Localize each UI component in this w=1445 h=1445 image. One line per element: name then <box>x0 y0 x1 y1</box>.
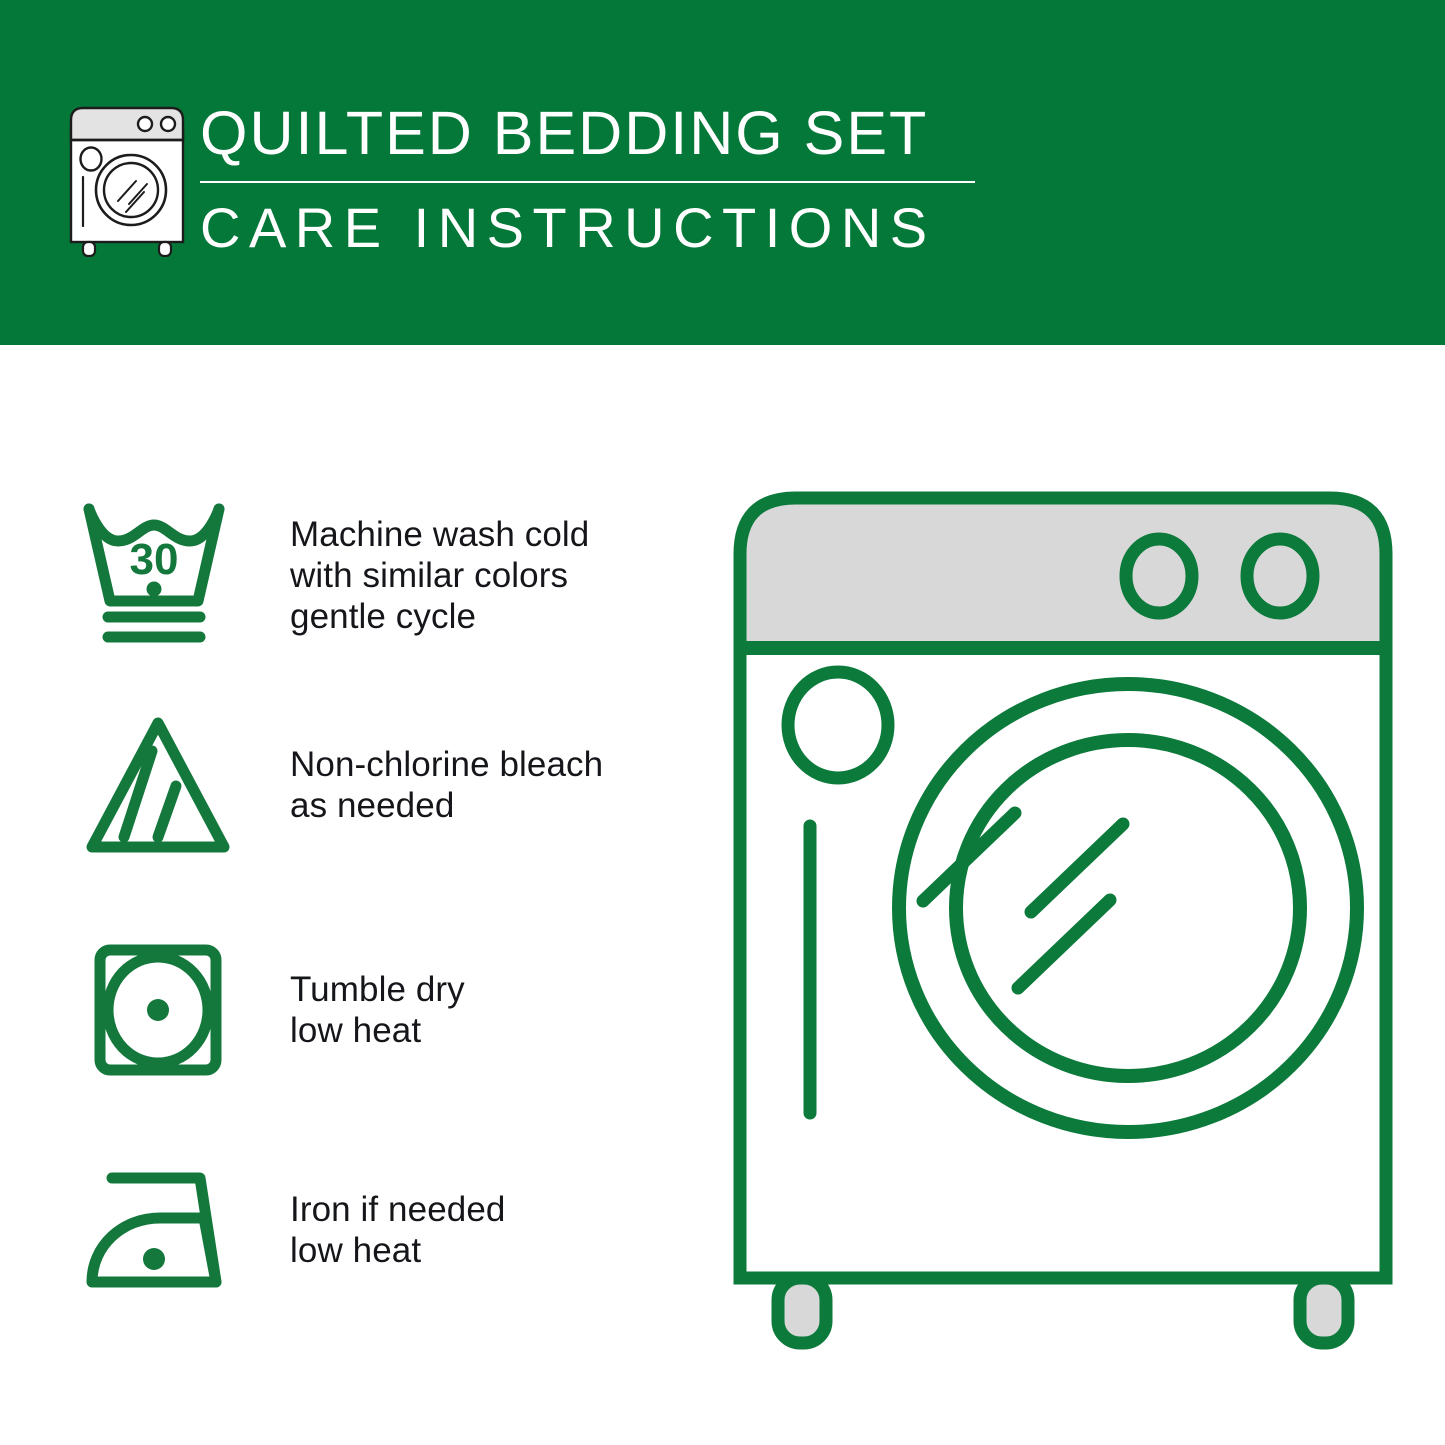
care-label-line: as needed <box>290 785 603 826</box>
front-load-washing-machine-illustration <box>718 478 1408 1358</box>
care-row-tumble-dry: Tumble dry low heat <box>0 930 700 1090</box>
care-label-line: Iron if needed <box>290 1189 505 1230</box>
care-label-line: with similar colors <box>290 555 589 596</box>
care-instructions-page: QUILTED BEDDING SET CARE INSTRUCTIONS <box>0 0 1445 1445</box>
care-row-iron: Iron if needed low heat <box>0 1150 700 1310</box>
care-label-iron: Iron if needed low heat <box>290 1189 505 1271</box>
header-text-block: QUILTED BEDDING SET CARE INSTRUCTIONS <box>200 96 990 262</box>
control-dial-icon <box>1126 539 1192 613</box>
control-dial-icon <box>1247 539 1313 613</box>
care-row-bleach: Non-chlorine bleach as needed <box>0 705 700 865</box>
care-label-tumble-dry: Tumble dry low heat <box>290 969 465 1051</box>
non-chlorine-bleach-triangle-icon <box>70 711 245 859</box>
washer-leg <box>778 1278 826 1343</box>
wash-temperature-value: 30 <box>129 535 178 584</box>
care-label-line: low heat <box>290 1230 505 1271</box>
care-row-machine-wash: 30 Machine wash cold with similar colors… <box>0 490 700 660</box>
detergent-knob-icon <box>788 672 888 778</box>
page-title: QUILTED BEDDING SET <box>200 96 990 170</box>
tumble-dry-square-icon <box>70 936 245 1084</box>
care-label-line: Machine wash cold <box>290 514 589 555</box>
washer-leg <box>1300 1278 1348 1343</box>
care-label-bleach: Non-chlorine bleach as needed <box>290 744 603 826</box>
door-inner-ring <box>956 740 1300 1076</box>
header-band: QUILTED BEDDING SET CARE INSTRUCTIONS <box>0 0 1445 345</box>
iron-icon <box>70 1156 245 1304</box>
care-label-line: gentle cycle <box>290 596 589 637</box>
machine-wash-tub-icon: 30 <box>70 501 245 649</box>
page-subtitle: CARE INSTRUCTIONS <box>200 194 990 262</box>
header-divider <box>200 181 975 183</box>
care-label-line: low heat <box>290 1010 465 1051</box>
care-label-machine-wash: Machine wash cold with similar colors ge… <box>290 514 589 637</box>
washing-machine-icon <box>62 102 194 257</box>
care-label-line: Tumble dry <box>290 969 465 1010</box>
care-label-line: Non-chlorine bleach <box>290 744 603 785</box>
care-instruction-list: 30 Machine wash cold with similar colors… <box>0 460 700 1310</box>
